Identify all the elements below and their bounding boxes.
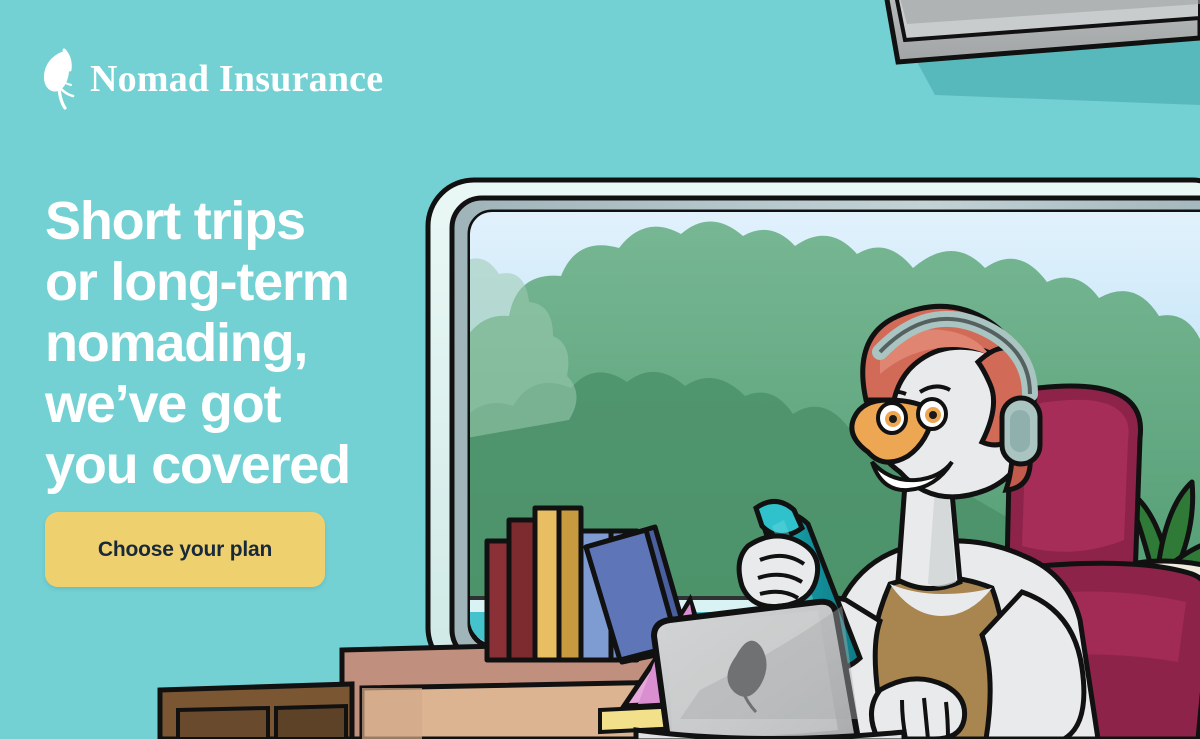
marketing-banner: Nomad Insurance Short trips or long-term… [0,0,1200,739]
choose-your-plan-button[interactable]: Choose your plan [45,512,325,587]
brand-logo[interactable]: Nomad Insurance [40,48,383,110]
brand-name: Nomad Insurance [90,60,383,98]
feather-icon [40,48,80,110]
page-title: Short trips or long-term nomading, we’ve… [45,191,350,496]
hero-content: Nomad Insurance Short trips or long-term… [0,0,460,739]
